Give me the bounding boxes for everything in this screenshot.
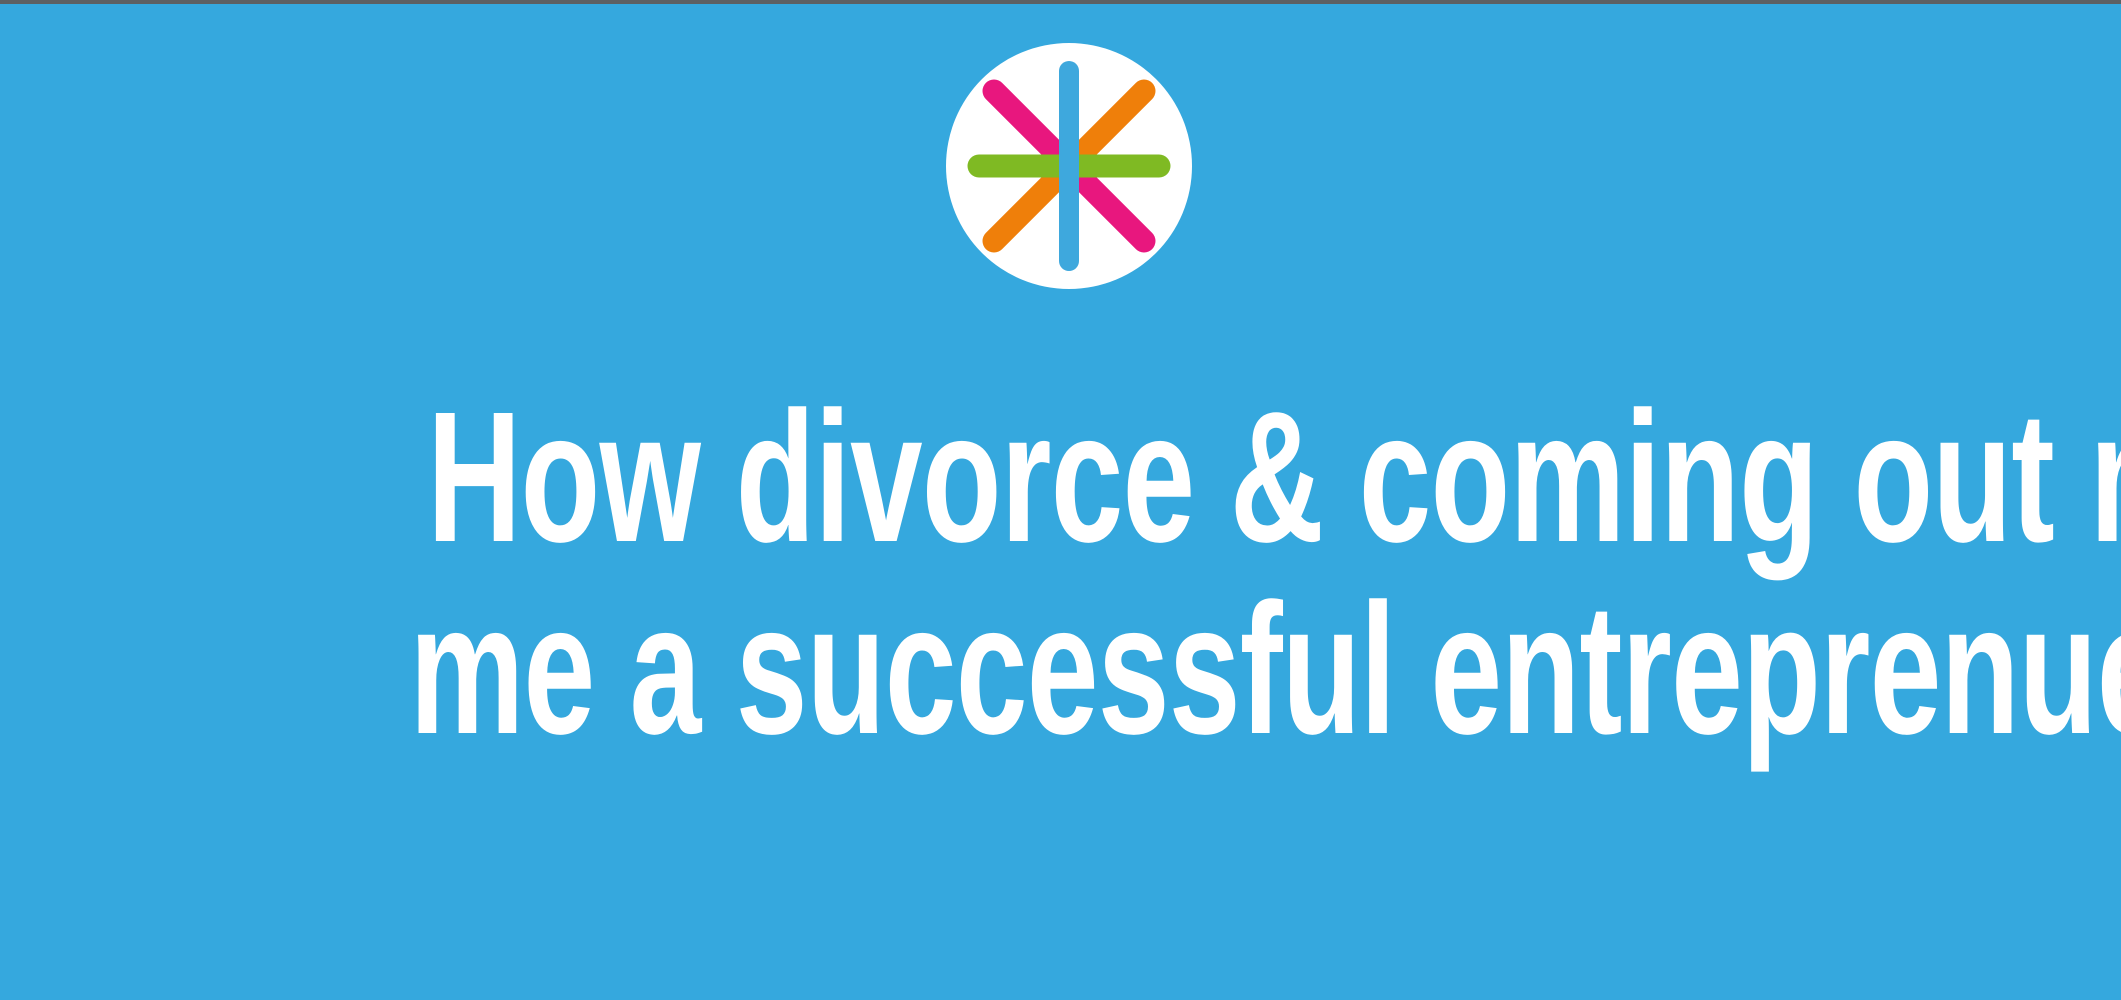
asterisk-starburst-logo	[946, 43, 1192, 289]
promo-banner: How divorce & coming out made me a succe…	[0, 0, 2121, 1000]
headline-line-1: How divorce & coming out made	[427, 382, 2121, 574]
page-title: How divorce & coming out made me a succe…	[0, 382, 2121, 766]
headline-line-2: me a successful entreprenuer!	[410, 574, 2121, 766]
top-edge-strip	[0, 0, 2121, 4]
